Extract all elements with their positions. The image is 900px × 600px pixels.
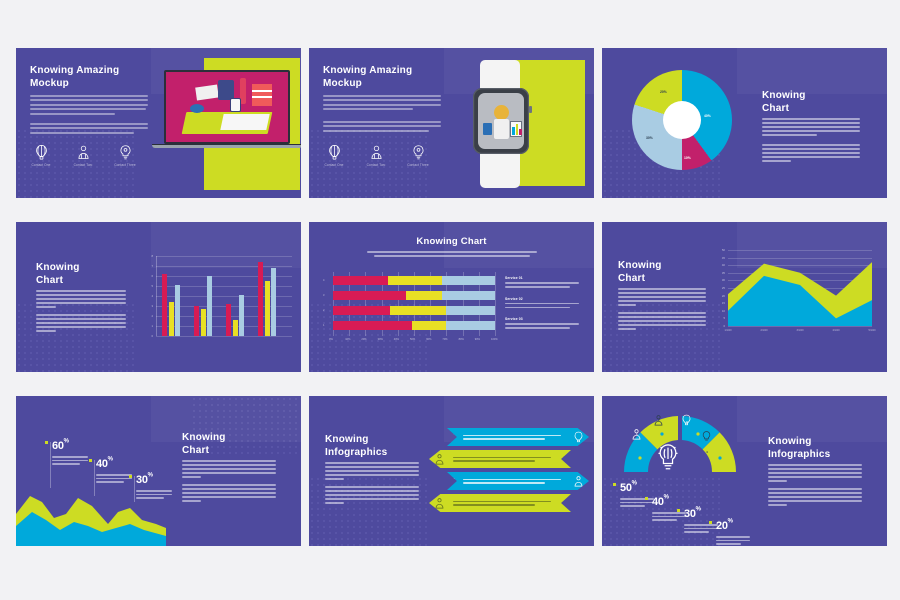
legend-label: Service 01 <box>505 276 579 280</box>
bar[interactable] <box>169 302 174 336</box>
stat-callout-3: 20% <box>716 516 750 545</box>
slide-title-line1: Knowing <box>36 262 136 275</box>
legend-description <box>505 282 579 288</box>
bar-segment[interactable] <box>390 306 447 315</box>
arrow-step[interactable]: 2 <box>429 450 571 468</box>
y-tick: 6 <box>144 274 153 278</box>
slide-stacked-bar-chart[interactable]: Knowing Chart 0%10%20%30%40%50%60%70%80%… <box>309 222 594 372</box>
x-tick: 50% <box>410 338 415 341</box>
y-tick: 2 <box>144 314 153 318</box>
x-tick: 70% <box>442 338 447 341</box>
slide-title: Knowing Chart <box>309 236 594 248</box>
bar[interactable] <box>271 268 276 336</box>
arc-node-4 <box>718 456 721 459</box>
slide-title-line2: Chart <box>36 275 136 288</box>
donut-hole <box>663 101 701 139</box>
contact-label-three: Contact Three <box>114 163 136 167</box>
bar-segment[interactable] <box>406 291 442 300</box>
stacked-bar-legend: Service 01Service 02Service 03 <box>505 276 579 338</box>
watch-face <box>478 93 524 149</box>
pie-label-2: 30% <box>646 136 653 140</box>
body-paragraph-1 <box>323 95 441 110</box>
x-tick: 90% <box>475 338 480 341</box>
x-tick: 1/1/20 <box>720 329 736 332</box>
body-paragraph-2 <box>768 488 862 506</box>
bar[interactable] <box>201 309 206 336</box>
legend-description <box>505 323 579 329</box>
step-number: 3 <box>452 478 455 484</box>
stat-bullet <box>45 441 48 444</box>
x-tick: 5/1/20 <box>864 329 880 332</box>
contact-label-two: Contact Two <box>365 163 387 167</box>
slide-arrow-infographics[interactable]: Knowing Infographics 1234 <box>309 396 594 546</box>
contact-item-three[interactable]: Contact Three <box>407 144 429 167</box>
arc-node-1 <box>638 456 641 459</box>
stat-callout-0: 50% <box>620 478 654 507</box>
slide-title-line1: Knowing <box>182 432 286 445</box>
step-description <box>460 435 568 440</box>
laptop-base <box>152 144 301 148</box>
body-paragraph-1 <box>325 462 419 480</box>
x-tick: 2/1/20 <box>756 329 772 332</box>
body-paragraph-2 <box>762 144 860 162</box>
stat-callout-2: 30% <box>684 504 718 533</box>
x-tick: 20% <box>361 338 366 341</box>
y-tick: 3 <box>323 294 324 297</box>
step-description <box>450 501 558 506</box>
arc-num-4: 4 <box>706 450 708 454</box>
slide-mockup-watch[interactable]: Knowing Amazing Mockup Contact One <box>309 48 594 198</box>
stat-callout-2: 30% <box>136 470 172 499</box>
bar-segment[interactable] <box>333 291 406 300</box>
area-series-group[interactable] <box>716 250 872 326</box>
stat-unit-3: % <box>728 519 733 525</box>
person-icon <box>368 144 385 161</box>
watch-body <box>473 88 529 154</box>
legend-label: Service 02 <box>505 297 579 301</box>
body-paragraph-1 <box>182 460 276 478</box>
stat-callout-0: 60% <box>52 436 88 465</box>
x-tick: 10% <box>345 338 350 341</box>
slide-title-line2: Chart <box>618 273 718 286</box>
y-tick: 3 <box>144 304 153 308</box>
pie-label-1: 10% <box>684 156 691 160</box>
body-paragraph-1 <box>30 95 148 115</box>
stat-value-1: 40 <box>652 496 664 508</box>
contact-item-three[interactable]: Contact Three <box>114 144 136 167</box>
pie-label-3: 20% <box>660 90 667 94</box>
body-paragraph-1 <box>762 118 860 136</box>
arrow-steps[interactable]: 1234 <box>429 428 589 520</box>
slide-title-line1: Knowing Amazing <box>30 65 154 78</box>
grid-line <box>728 326 872 327</box>
y-tick: 4 <box>144 294 153 298</box>
stacked-bar-row[interactable] <box>333 291 495 300</box>
bar[interactable] <box>207 276 212 336</box>
stat-bullet <box>89 459 92 462</box>
stacked-bar-row[interactable] <box>333 321 495 330</box>
hot-air-balloon-icon <box>572 431 585 444</box>
stat-caption-2 <box>136 490 172 499</box>
y-tick: 5 <box>144 284 153 288</box>
bar[interactable] <box>233 320 238 336</box>
slide-title-line2: Mockup <box>323 78 447 91</box>
person-icon <box>433 497 446 510</box>
slide-bar-chart[interactable]: Knowing Chart 012345678 <box>16 222 301 372</box>
step-number: 2 <box>563 456 566 462</box>
legend-item: Service 02 <box>505 297 579 309</box>
slide-subtitle <box>367 251 537 257</box>
hot-air-balloon-icon <box>680 414 693 427</box>
legend-item: Service 03 <box>505 317 579 329</box>
legend-description <box>505 303 579 309</box>
stat-callout-1: 40% <box>652 492 686 521</box>
slide-arc-infographics[interactable]: 1 2 3 4 50% 40% <box>602 396 887 546</box>
x-tick: 30% <box>378 338 383 341</box>
slide-title-line1: Knowing <box>762 90 870 103</box>
stat-value-2: 30 <box>684 508 696 520</box>
body-paragraph-1 <box>36 290 126 308</box>
y-axis <box>156 256 157 336</box>
stat-value-0: 50 <box>620 482 632 494</box>
stacked-bar-row[interactable] <box>333 276 495 285</box>
bar-segment[interactable] <box>412 321 446 330</box>
pie-chart[interactable]: 40% 10% 30% 20% <box>632 70 732 170</box>
grid-line <box>495 272 496 336</box>
bar-segment[interactable] <box>388 276 441 285</box>
bar[interactable] <box>258 262 263 336</box>
x-tick: 3/1/20 <box>792 329 808 332</box>
body-paragraph-2 <box>325 486 419 504</box>
body-paragraph-2 <box>36 314 126 332</box>
y-tick: 4 <box>323 279 324 282</box>
contact-icon-row: Contact One Contact Two Contact Three <box>30 144 136 167</box>
contact-item-two[interactable]: Contact Two <box>72 144 94 167</box>
y-tick: 2 <box>323 309 324 312</box>
slide-title-line1: Knowing <box>618 260 718 273</box>
x-tick: 60% <box>426 338 431 341</box>
slide-title-line1: Knowing Amazing <box>323 65 447 78</box>
grid-line <box>156 256 292 257</box>
body-paragraph-2 <box>618 312 706 330</box>
stat-unit-2: % <box>148 473 153 479</box>
lightbulb-icon <box>117 144 134 161</box>
slide-title-line1: Knowing <box>768 436 876 449</box>
contact-label-two: Contact Two <box>72 163 94 167</box>
arrow-step[interactable]: 4 <box>429 494 571 512</box>
stacked-bar-plot[interactable]: 0%10%20%30%40%50%60%70%80%90%100%4321 <box>323 272 495 350</box>
slide-title-line2: Infographics <box>768 449 876 462</box>
person-icon <box>630 428 643 441</box>
area-chart-plot[interactable]: 051015202530354045501/1/202/1/203/1/204/… <box>716 250 876 346</box>
stat-value-2: 30 <box>136 474 148 486</box>
bar-segment[interactable] <box>442 276 495 285</box>
x-tick: 80% <box>459 338 464 341</box>
stacked-bar-row[interactable] <box>333 306 495 315</box>
slide-title-line2: Chart <box>182 445 286 458</box>
bar-segment[interactable] <box>333 321 412 330</box>
person-icon <box>75 144 92 161</box>
bar[interactable] <box>226 304 231 336</box>
legend-item: Service 01 <box>505 276 579 288</box>
bar-segment[interactable] <box>446 321 495 330</box>
person-icon <box>433 453 446 466</box>
x-tick: 0% <box>329 338 333 341</box>
legend-label: Service 03 <box>505 317 579 321</box>
step-description <box>450 457 558 462</box>
stat-callout-1: 40% <box>96 454 132 483</box>
x-tick: 4/1/20 <box>828 329 844 332</box>
body-paragraph-2 <box>30 123 148 134</box>
contact-label-one: Contact One <box>323 163 345 167</box>
slide-deck: Knowing Amazing Mockup Contact One <box>16 48 884 552</box>
stat-value-3: 20 <box>716 520 728 532</box>
body-paragraph-1 <box>618 288 706 306</box>
grid-line <box>156 336 292 337</box>
body-paragraph-2 <box>182 484 276 502</box>
leader-line-2 <box>134 476 135 502</box>
stat-bullet <box>677 509 680 512</box>
stat-caption-1 <box>96 474 132 483</box>
stat-unit-1: % <box>664 495 669 501</box>
watch-crown <box>529 106 532 113</box>
stat-bullet <box>709 521 712 524</box>
stat-bullet <box>129 475 132 478</box>
arrow-step[interactable]: 1 <box>447 428 589 446</box>
contact-label-three: Contact Three <box>407 163 429 167</box>
slide-pie-chart[interactable]: 40% 10% 30% 20% Knowing Chart <box>602 48 887 198</box>
y-tick: 7 <box>144 264 153 268</box>
bar[interactable] <box>265 281 270 336</box>
contact-item-one[interactable]: Contact One <box>30 144 52 167</box>
bar[interactable] <box>175 285 180 336</box>
slide-title-line2: Chart <box>762 103 870 116</box>
slide-title-line2: Mockup <box>30 78 154 91</box>
stat-unit-1: % <box>108 457 113 463</box>
stat-unit-0: % <box>64 439 69 445</box>
slide-area-stats[interactable]: 60% 40% 30% Knowing Chart <box>16 396 301 546</box>
y-tick: 1 <box>323 324 324 327</box>
bar-segment[interactable] <box>446 306 495 315</box>
step-number: 1 <box>452 434 455 440</box>
slide-title-line1: Knowing <box>325 434 435 447</box>
hot-air-balloon-icon <box>33 144 50 161</box>
leader-line-0 <box>50 442 51 488</box>
contact-label-one: Contact One <box>30 163 52 167</box>
hot-air-balloon-icon <box>326 144 343 161</box>
x-tick: 100% <box>491 338 498 341</box>
bar[interactable] <box>162 274 167 336</box>
dot-texture <box>16 302 136 372</box>
stat-caption-0 <box>52 456 88 465</box>
arc-node-2 <box>660 432 663 435</box>
lightbulb-icon <box>410 144 427 161</box>
slide-area-chart[interactable]: Knowing Chart 051015202530354045501/1/20… <box>602 222 887 372</box>
laptop-screen <box>164 70 290 144</box>
step-description <box>460 479 568 484</box>
leader-line-1 <box>94 460 95 496</box>
contact-icon-row: Contact One Contact Two Contact Three <box>323 144 429 167</box>
bar[interactable] <box>194 306 199 336</box>
arrow-step[interactable]: 3 <box>447 472 589 490</box>
bar[interactable] <box>239 295 244 336</box>
y-tick: 8 <box>144 254 153 258</box>
lightbulb-icon <box>700 430 713 443</box>
slide-title-line2: Infographics <box>325 447 435 460</box>
body-paragraph-2 <box>323 121 441 132</box>
corner-tint <box>737 48 887 94</box>
watch-band-bottom <box>480 148 520 188</box>
brain-lightbulb-icon <box>654 442 682 476</box>
pie-label-0: 40% <box>704 114 711 118</box>
stat-value-0: 60 <box>52 440 64 452</box>
grid-line <box>156 266 292 267</box>
contact-item-one[interactable]: Contact One <box>323 144 345 167</box>
bar-segment[interactable] <box>333 276 388 285</box>
y-tick: 1 <box>144 324 153 328</box>
body-paragraph-1 <box>768 464 862 482</box>
bar-chart-plot[interactable]: 012345678 <box>144 256 292 348</box>
bar-segment[interactable] <box>442 291 495 300</box>
stat-bullet <box>645 497 648 500</box>
x-tick: 40% <box>394 338 399 341</box>
stat-unit-2: % <box>696 507 701 513</box>
step-number: 4 <box>563 500 566 506</box>
contact-item-two[interactable]: Contact Two <box>365 144 387 167</box>
stat-bullet <box>613 483 616 486</box>
stat-value-1: 40 <box>96 458 108 470</box>
stat-unit-0: % <box>632 481 637 487</box>
slide-mockup-laptop[interactable]: Knowing Amazing Mockup Contact One <box>16 48 301 198</box>
bar-segment[interactable] <box>333 306 390 315</box>
person-icon <box>652 414 665 427</box>
y-tick: 0 <box>144 334 153 338</box>
person-icon <box>572 475 585 488</box>
